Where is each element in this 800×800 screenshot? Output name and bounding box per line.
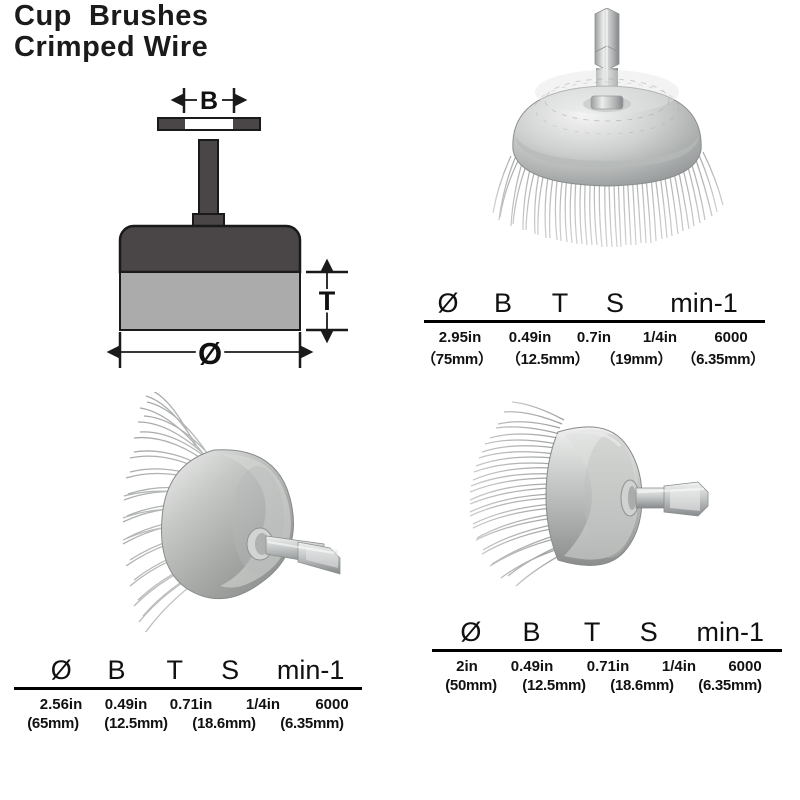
title-line-2: Crimped Wire: [14, 33, 209, 62]
value-t-mm: (18.6mm): [180, 715, 268, 732]
col-header-diameter: Ø: [424, 288, 472, 319]
spec-header-row: Ø B T S min-1: [424, 288, 769, 319]
value-diameter-mm: （75mm）: [414, 348, 500, 369]
product-photo-cup-brush-75mm: [455, 8, 785, 283]
value-diameter-in: 2in: [440, 658, 494, 675]
value-b-mm: （12.5mm）: [500, 348, 596, 369]
value-b-in: 0.49in: [496, 329, 564, 346]
value-s-in: 1/4in: [224, 696, 302, 713]
col-header-b: B: [500, 617, 564, 648]
value-t-in: 0.71in: [158, 696, 224, 713]
col-header-s: S: [203, 655, 257, 686]
value-s-mm: (6.35mm): [268, 715, 356, 732]
spec-row-mm: (50mm) (12.5mm) (18.6mm) (6.35mm): [432, 677, 784, 694]
cup-body: [546, 427, 642, 566]
spec-row-inches: 2.56in 0.49in 0.71in 1/4in 6000: [14, 696, 364, 713]
col-header-t: T: [147, 655, 203, 686]
brush-body: [120, 226, 300, 272]
spec-table-cup-brush-75mm: Ø B T S min-1 2.95in 0.49in 0.7in 1/4in …: [424, 288, 769, 369]
cup-body: [162, 450, 294, 599]
spec-divider: [14, 687, 362, 690]
spec-divider: [424, 320, 765, 323]
value-t-mm: （19mm）: [596, 348, 678, 369]
value-rpm: 6000: [696, 329, 766, 346]
brush-bristle-block: [120, 272, 300, 330]
spec-row-mm: （75mm） （12.5mm） （19mm） （6.35mm）: [414, 348, 769, 369]
col-header-rpm: min-1: [644, 288, 764, 319]
brush-stem: [193, 140, 224, 228]
col-header-s: S: [621, 617, 677, 648]
value-b-in: 0.49in: [94, 696, 158, 713]
col-header-diameter: Ø: [442, 617, 500, 648]
value-s-mm: （6.35mm）: [677, 348, 769, 369]
value-rpm: 6000: [712, 658, 778, 675]
svg-text:T: T: [319, 286, 336, 316]
value-b-in: 0.49in: [494, 658, 570, 675]
value-s-in: 1/4in: [646, 658, 712, 675]
spec-table-cup-brush-65mm: Ø B T S min-1 2.56in 0.49in 0.71in 1/4in…: [14, 655, 364, 732]
value-t-mm: (18.6mm): [598, 677, 686, 694]
col-header-t: T: [563, 617, 621, 648]
top-view-bar: [158, 118, 260, 130]
value-s-mm: (6.35mm): [686, 677, 774, 694]
col-header-t: T: [534, 288, 586, 319]
product-photo-cup-brush-65mm: [62, 392, 372, 632]
value-diameter-in: 2.56in: [28, 696, 94, 713]
value-t-in: 0.71in: [570, 658, 646, 675]
svg-text:Ø: Ø: [198, 336, 222, 371]
hex-shank: [636, 482, 708, 516]
col-header-b: B: [86, 655, 146, 686]
col-header-rpm: min-1: [677, 617, 784, 648]
col-header-s: S: [586, 288, 644, 319]
col-header-rpm: min-1: [257, 655, 364, 686]
value-s-in: 1/4in: [624, 329, 696, 346]
value-diameter-in: 2.95in: [424, 329, 496, 346]
dimension-t: T: [306, 272, 348, 330]
value-b-mm: (12.5mm): [92, 715, 180, 732]
title-line-1: Cup Brushes: [14, 2, 209, 31]
col-header-diameter: Ø: [36, 655, 86, 686]
value-diameter-mm: (50mm): [432, 677, 510, 694]
value-b-mm: (12.5mm): [510, 677, 598, 694]
value-t-in: 0.7in: [564, 329, 624, 346]
page-title: Cup Brushes Crimped Wire: [14, 2, 209, 64]
cup-body: [513, 70, 701, 186]
value-diameter-mm: (65mm): [14, 715, 92, 732]
spec-header-row: Ø B T S min-1: [432, 617, 784, 648]
spec-row-inches: 2in 0.49in 0.71in 1/4in 6000: [432, 658, 784, 675]
cup-brush-cross-section-diagram: B T Ø: [100, 80, 360, 375]
spec-table-cup-brush-50mm: Ø B T S min-1 2in 0.49in 0.71in 1/4in 60…: [432, 617, 784, 694]
svg-text:B: B: [200, 87, 218, 115]
spec-divider: [432, 649, 782, 652]
col-header-b: B: [472, 288, 534, 319]
spec-row-mm: (65mm) (12.5mm) (18.6mm) (6.35mm): [14, 715, 364, 732]
value-rpm: 6000: [302, 696, 362, 713]
spec-header-row: Ø B T S min-1: [14, 655, 364, 686]
dimension-b: B: [184, 87, 234, 115]
product-photo-cup-brush-50mm: [452, 392, 717, 597]
spec-row-inches: 2.95in 0.49in 0.7in 1/4in 6000: [424, 329, 769, 346]
dimension-diameter: Ø: [120, 332, 300, 371]
